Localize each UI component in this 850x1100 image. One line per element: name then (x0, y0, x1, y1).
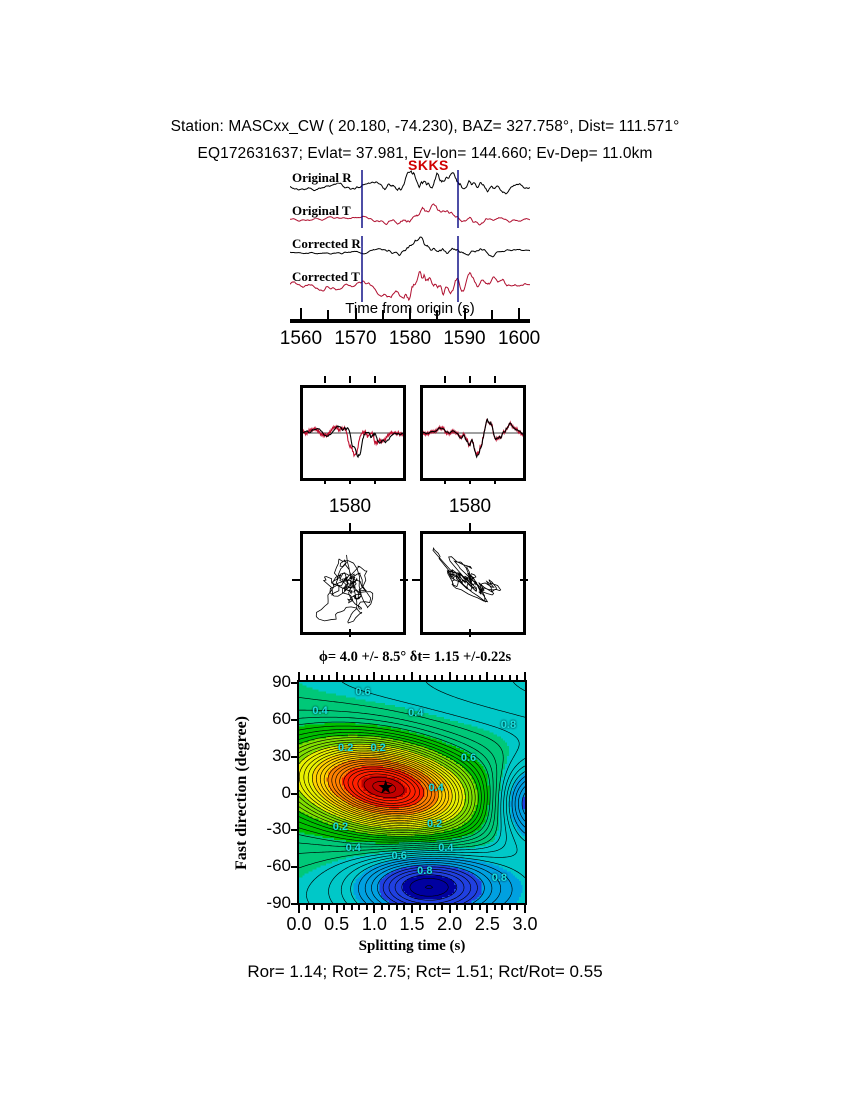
contour-x-tick (441, 675, 443, 680)
time-tick-label: 1570 (334, 328, 376, 350)
contour-x-tick (306, 905, 308, 910)
contour-x-tick (456, 675, 458, 680)
contour-x-tick (298, 672, 300, 680)
time-tick-label: 1580 (389, 328, 431, 350)
contour-y-tick-label: 30 (272, 746, 291, 766)
wave-box-tick (469, 376, 471, 383)
contour-x-tick (306, 675, 308, 680)
contour-y-tick (291, 682, 297, 684)
particle-box-tick (520, 579, 528, 581)
particle-box-tick (469, 629, 471, 637)
contour-y-tick (291, 756, 297, 758)
contour-x-tick (336, 672, 338, 680)
contour-x-tick (449, 905, 451, 913)
contour-y-tick (291, 903, 297, 905)
contour-x-tick (486, 905, 488, 913)
contour-x-tick (343, 905, 345, 910)
wave-box-traces-left (303, 388, 403, 478)
contour-x-tick (494, 675, 496, 680)
contour-value-label: 0.4 (428, 782, 443, 794)
splitting-analysis-figure: Station: MASCxx_CW ( 20.180, -74.230), B… (0, 0, 850, 1100)
contour-value-label: 0.4 (312, 705, 327, 717)
contour-x-tick (411, 672, 413, 680)
particle-box-tick (400, 579, 408, 581)
contour-x-tick (524, 672, 526, 680)
contour-value-label: 0.2 (370, 742, 385, 754)
contour-value-label: 0.6 (355, 686, 370, 698)
contour-y-tick-label: 60 (272, 709, 291, 729)
contour-x-tick-label: 1.5 (399, 914, 424, 935)
contour-x-tick (373, 672, 375, 680)
contour-value-label: 0.4 (408, 707, 423, 719)
contour-x-tick (449, 672, 451, 680)
contour-value-label: 0.8 (501, 719, 516, 731)
contour-x-tick (351, 675, 353, 680)
contour-x-tick (456, 905, 458, 910)
contour-x-tick (321, 905, 323, 910)
particle-motion-before (300, 531, 406, 635)
contour-y-tick-label: -90 (266, 893, 291, 913)
contour-x-tick (479, 905, 481, 910)
time-tick-label: 1600 (498, 328, 540, 350)
wave-box-tick (444, 376, 446, 383)
particle-box-tick (412, 579, 420, 581)
contour-x-tick (411, 905, 413, 913)
contour-x-tick (501, 905, 503, 910)
contour-x-tick (426, 905, 428, 910)
wave-box-fast-slow-uncorrected (300, 385, 406, 481)
contour-x-tick (403, 905, 405, 910)
phase-label-skks: SKKS (408, 157, 449, 173)
wave-box-label-right: 1580 (449, 496, 491, 518)
contour-x-tick (419, 675, 421, 680)
particle-box-tick (292, 579, 300, 581)
contour-x-axis-title: Splitting time (s) (297, 938, 527, 955)
trace-label-original-t: Original T (292, 203, 351, 219)
waveform-trace-panel: Original R Original T Corrected R Correc… (290, 168, 530, 308)
contour-x-tick (419, 905, 421, 910)
time-axis-tick-labels: 15601570158015901600 (262, 328, 562, 354)
particle-motion-after (420, 531, 526, 635)
contour-x-tick (328, 905, 330, 910)
contour-x-tick (479, 675, 481, 680)
particle-box-tick (349, 629, 351, 637)
contour-y-axis-title: Fast direction (degree) (233, 716, 251, 870)
wave-box-traces-right (423, 388, 523, 478)
contour-y-tick-label: 0 (282, 783, 291, 803)
contour-value-label: 0.4 (346, 842, 361, 854)
contour-y-tick (291, 719, 297, 721)
contour-value-label: 0.2 (427, 818, 442, 830)
contour-x-tick (516, 905, 518, 910)
contour-x-tick (381, 675, 383, 680)
contour-x-tick (373, 905, 375, 913)
trace-label-original-r: Original R (292, 170, 352, 186)
contour-y-tick (291, 793, 297, 795)
particle-motion-curve-before (303, 534, 403, 632)
contour-x-tick (343, 675, 345, 680)
contour-x-tick (313, 675, 315, 680)
contour-value-label: 0.8 (417, 865, 432, 877)
wave-box-tick (324, 376, 326, 383)
contour-x-tick (464, 675, 466, 680)
contour-x-tick (434, 675, 436, 680)
contour-x-tick (426, 675, 428, 680)
contour-x-tick (441, 905, 443, 910)
time-axis-title: Time from origin (s) (290, 300, 530, 317)
contour-x-tick (336, 905, 338, 913)
contour-x-tick (494, 905, 496, 910)
contour-y-tick (291, 866, 297, 868)
particle-motion-curve-after (423, 534, 523, 632)
contour-x-tick (403, 675, 405, 680)
wave-box-tick (349, 376, 351, 383)
particle-box-tick (349, 523, 351, 531)
contour-value-label: 0.2 (338, 742, 353, 754)
contour-y-tick-label: 90 (272, 672, 291, 692)
contour-x-tick-label: 2.0 (437, 914, 462, 935)
contour-x-tick (321, 675, 323, 680)
time-tick-label: 1560 (280, 328, 322, 350)
contour-x-tick (396, 675, 398, 680)
wave-box-fast-slow-corrected (420, 385, 526, 481)
minimum-star-marker: ★ (377, 778, 394, 797)
contour-x-tick (358, 905, 360, 910)
trace-label-corrected-r: Corrected R (292, 236, 361, 252)
contour-x-tick (366, 905, 368, 910)
contour-x-tick (313, 905, 315, 910)
station-info-line: Station: MASCxx_CW ( 20.180, -74.230), B… (0, 118, 850, 136)
contour-value-label: 0.6 (392, 850, 407, 862)
contour-x-tick-label: 1.0 (362, 914, 387, 935)
splitting-parameters-title: ϕ= 4.0 +/- 8.5° δt= 1.15 +/-0.22s (230, 649, 600, 666)
contour-value-label: 0.8 (492, 872, 507, 884)
quality-metrics-footer: Ror= 1.14; Rot= 2.75; Rct= 1.51; Rct/Rot… (0, 962, 850, 982)
wave-box-label-left: 1580 (329, 496, 371, 518)
contour-x-tick (524, 905, 526, 913)
contour-x-tick (366, 675, 368, 680)
contour-y-tick-label: -60 (266, 856, 291, 876)
contour-x-tick-label: 0.5 (324, 914, 349, 935)
contour-y-tick (291, 829, 297, 831)
wave-box-tick (374, 376, 376, 383)
contour-x-tick (509, 675, 511, 680)
contour-y-tick-label: -30 (266, 819, 291, 839)
contour-value-label: 0.2 (333, 821, 348, 833)
contour-x-tick (501, 675, 503, 680)
contour-plot-wrapper: ★0.60.40.40.80.20.20.60.40.20.20.40.40.6… (297, 680, 527, 905)
contour-x-tick (298, 905, 300, 913)
contour-x-tick-label: 3.0 (512, 914, 537, 935)
contour-x-tick (486, 672, 488, 680)
contour-x-tick (358, 675, 360, 680)
contour-x-tick (388, 675, 390, 680)
wave-box-tick (494, 376, 496, 383)
contour-x-tick (471, 905, 473, 910)
contour-value-label: 0.4 (438, 842, 453, 854)
contour-x-tick (381, 905, 383, 910)
contour-x-tick (396, 905, 398, 910)
contour-x-tick (388, 905, 390, 910)
contour-value-label: 0.6 (461, 752, 476, 764)
contour-x-tick (434, 905, 436, 910)
contour-x-tick-label: 0.0 (286, 914, 311, 935)
contour-x-tick (471, 675, 473, 680)
contour-x-tick (464, 905, 466, 910)
contour-x-tick (516, 675, 518, 680)
particle-box-tick (469, 523, 471, 531)
contour-x-tick (509, 905, 511, 910)
trace-label-corrected-t: Corrected T (292, 269, 360, 285)
contour-x-tick (328, 675, 330, 680)
contour-x-tick (351, 905, 353, 910)
contour-x-tick-label: 2.5 (475, 914, 500, 935)
time-tick-label: 1590 (443, 328, 485, 350)
